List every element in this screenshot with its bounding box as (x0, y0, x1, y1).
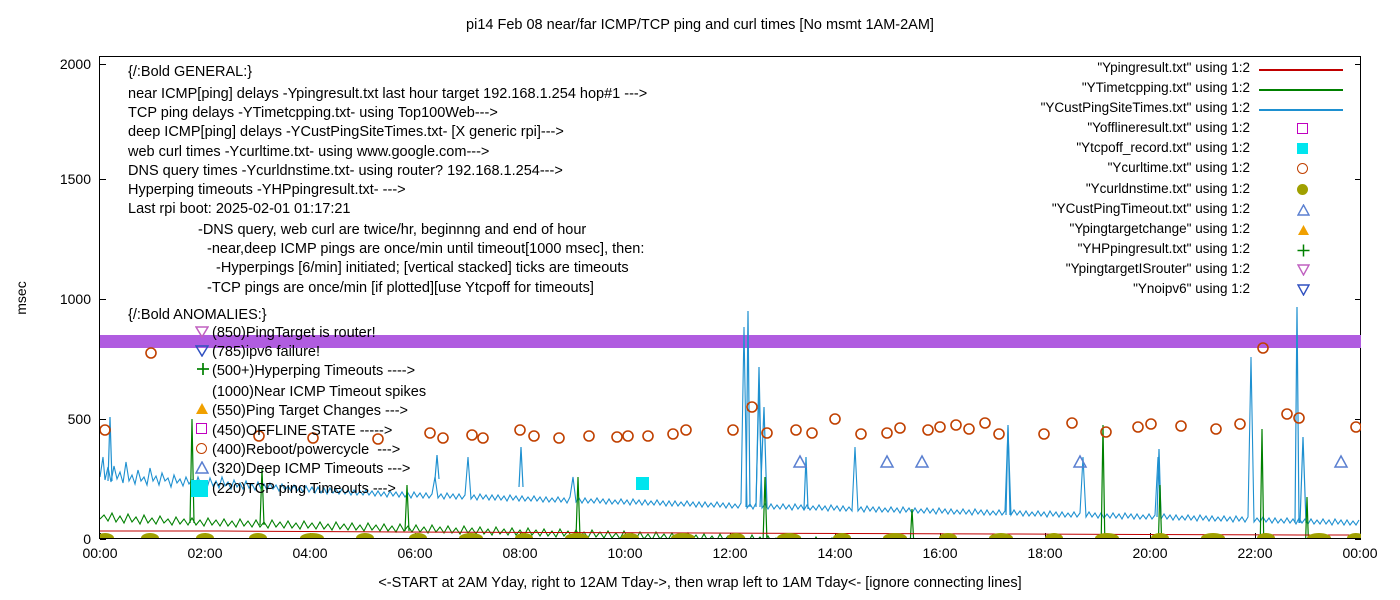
x-tick-1: 02:00 (175, 545, 235, 561)
legend-symbol-triangle-down-blue (1255, 281, 1347, 301)
x-tick-12: 00:00 (1330, 545, 1390, 561)
square-icon (196, 423, 207, 434)
triangle-up-icon (195, 461, 209, 474)
ftriangle-up-icon (195, 402, 209, 415)
legend-symbol-filled-square (1255, 140, 1347, 160)
general-line-0: near ICMP[ping] delays -Ypingresult.txt … (128, 86, 647, 102)
series-ycurldnstime-points (100, 533, 1361, 538)
legend-item-6[interactable]: "Ycurldnstime.txt" using 1:2 (950, 181, 1355, 201)
legend-label-5: "Ycurltime.txt" using 1:2 (1108, 160, 1250, 175)
legend-symbol-line-green (1255, 80, 1347, 100)
legend-symbol-filled-circle (1255, 181, 1347, 201)
anomaly-label-7: (320)Deep ICMP Timeouts ---> (212, 461, 410, 477)
chart-title: pi14 Feb 08 near/far ICMP/TCP ping and c… (0, 17, 1400, 33)
y-tickmark (100, 539, 106, 540)
legend-item-2[interactable]: "YCustPingSiteTimes.txt" using 1:2 (950, 100, 1355, 120)
legend-label-9: "YHPpingresult.txt" using 1:2 (1078, 241, 1250, 256)
series-custpingtimeout-points (794, 456, 1347, 467)
anomaly-label-5: (450)OFFLINE STATE -----> (212, 423, 392, 439)
plus-icon (196, 362, 210, 376)
legend-item-11[interactable]: "Ynoipv6" using 1:2 (950, 281, 1355, 301)
anomaly-label-6: (400)Reboot/powercycle ---> (212, 442, 400, 458)
general-indent-2: -Hyperpings [6/min] initiated; [vertical… (212, 260, 629, 276)
x-tick-0: 00:00 (70, 545, 130, 561)
x-tick-3: 06:00 (385, 545, 445, 561)
triangle-down-purple-icon (195, 326, 209, 338)
legend-label-11: "Ynoipv6" using 1:2 (1133, 281, 1250, 296)
legend-label-3: "Yofflineresult.txt" using 1:2 (1087, 120, 1250, 135)
legend-label-8: "Ypingtargetchange" using 1:2 (1070, 221, 1250, 236)
legend-symbol-line-red (1255, 60, 1347, 80)
legend-symbol-square (1255, 120, 1347, 140)
x-axis-label: <-START at 2AM Yday, right to 12AM Tday-… (0, 575, 1400, 591)
anomaly-label-2: (500+)Hyperping Timeouts ----> (212, 363, 415, 379)
y-tick-1000: 1000 (19, 291, 91, 307)
x-tick-7: 14:00 (805, 545, 865, 561)
anomaly-label-1: (785)ipv6 failure! (212, 344, 320, 360)
legend-symbol-line-blue (1255, 100, 1347, 120)
legend-symbol-triangle-up (1255, 201, 1347, 221)
filled-square-icon (191, 480, 208, 497)
series-ypingresult (100, 531, 1359, 535)
legend-item-1[interactable]: "YTimetcpping.txt" using 1:2 (950, 80, 1355, 100)
x-tick-5: 10:00 (595, 545, 655, 561)
legend-label-7: "YCustPingTimeout.txt" using 1:2 (1052, 201, 1250, 216)
y-tick-500: 500 (19, 411, 91, 427)
general-indent-1: -near,deep ICMP pings are once/min until… (207, 241, 644, 257)
anomaly-label-3: (1000)Near ICMP Timeout spikes (212, 384, 426, 400)
x-tick-2: 04:00 (280, 545, 340, 561)
general-line-5: Hyperping timeouts -YHPpingresult.txt- -… (128, 182, 406, 198)
legend-item-3[interactable]: "Yofflineresult.txt" using 1:2 (950, 120, 1355, 140)
x-tick-11: 22:00 (1225, 545, 1285, 561)
x-tick-9: 18:00 (1015, 545, 1075, 561)
general-line-1: TCP ping delays -YTimetcpping.txt- using… (128, 105, 498, 121)
legend-label-1: "YTimetcpping.txt" using 1:2 (1082, 80, 1250, 95)
general-header: {/:Bold GENERAL:} (128, 64, 252, 80)
legend-label-10: "YpingtargetISrouter" using 1:2 (1066, 261, 1250, 276)
general-line-6: Last rpi boot: 2025-02-01 01:17:21 (128, 201, 351, 217)
legend-item-8[interactable]: "Ypingtargetchange" using 1:2 (950, 221, 1355, 241)
y-tick-1500: 1500 (19, 171, 91, 187)
general-line-2: deep ICMP[ping] delays -YCustPingSiteTim… (128, 124, 564, 140)
legend: "Ypingresult.txt" using 1:2 "YTimetcppin… (950, 60, 1355, 301)
legend-label-0: "Ypingresult.txt" using 1:2 (1097, 60, 1250, 75)
general-line-4: DNS query times -Ycurldnstime.txt- using… (128, 163, 563, 179)
legend-item-0[interactable]: "Ypingresult.txt" using 1:2 (950, 60, 1355, 80)
y-tickmark (1355, 539, 1361, 540)
general-line-3: web curl times -Ycurltime.txt- using www… (128, 144, 489, 160)
legend-item-10[interactable]: "YpingtargetISrouter" using 1:2 (950, 261, 1355, 281)
legend-label-6: "Ycurldnstime.txt" using 1:2 (1086, 181, 1250, 196)
y-tick-2000: 2000 (19, 56, 91, 72)
triangle-down-blue-icon (195, 345, 209, 357)
circle-icon (196, 443, 207, 454)
legend-item-7[interactable]: "YCustPingTimeout.txt" using 1:2 (950, 201, 1355, 221)
general-indent-3: -TCP pings are once/min [if plotted][use… (207, 280, 594, 296)
legend-symbol-circle (1255, 160, 1347, 180)
legend-item-4[interactable]: "Ytcpoff_record.txt" using 1:2 (950, 140, 1355, 160)
anomaly-label-4: (550)Ping Target Changes ---> (212, 403, 408, 419)
legend-item-5[interactable]: "Ycurltime.txt" using 1:2 (950, 160, 1355, 180)
series-ytcpoff-point (636, 477, 649, 490)
legend-item-9[interactable]: "YHPpingresult.txt" using 1:2 (950, 241, 1355, 261)
x-tick-10: 20:00 (1120, 545, 1180, 561)
x-tick-6: 12:00 (700, 545, 760, 561)
x-tick-4: 08:00 (490, 545, 550, 561)
general-indent-0: -DNS query, web curl are twice/hr, begin… (198, 222, 586, 238)
anomaly-label-8: (220)TCP ping Timeouts ---> (212, 481, 396, 497)
anomaly-label-0: (850)PingTarget is router! (212, 325, 376, 341)
legend-symbol-plus (1255, 241, 1347, 261)
anomalies-header: {/:Bold ANOMALIES:} (128, 307, 267, 323)
legend-symbol-filled-triangle-up (1255, 221, 1347, 241)
x-tick-8: 16:00 (910, 545, 970, 561)
legend-symbol-triangle-down-purple (1255, 261, 1347, 281)
legend-label-4: "Ytcpoff_record.txt" using 1:2 (1076, 140, 1250, 155)
legend-label-2: "YCustPingSiteTimes.txt" using 1:2 (1041, 100, 1250, 115)
